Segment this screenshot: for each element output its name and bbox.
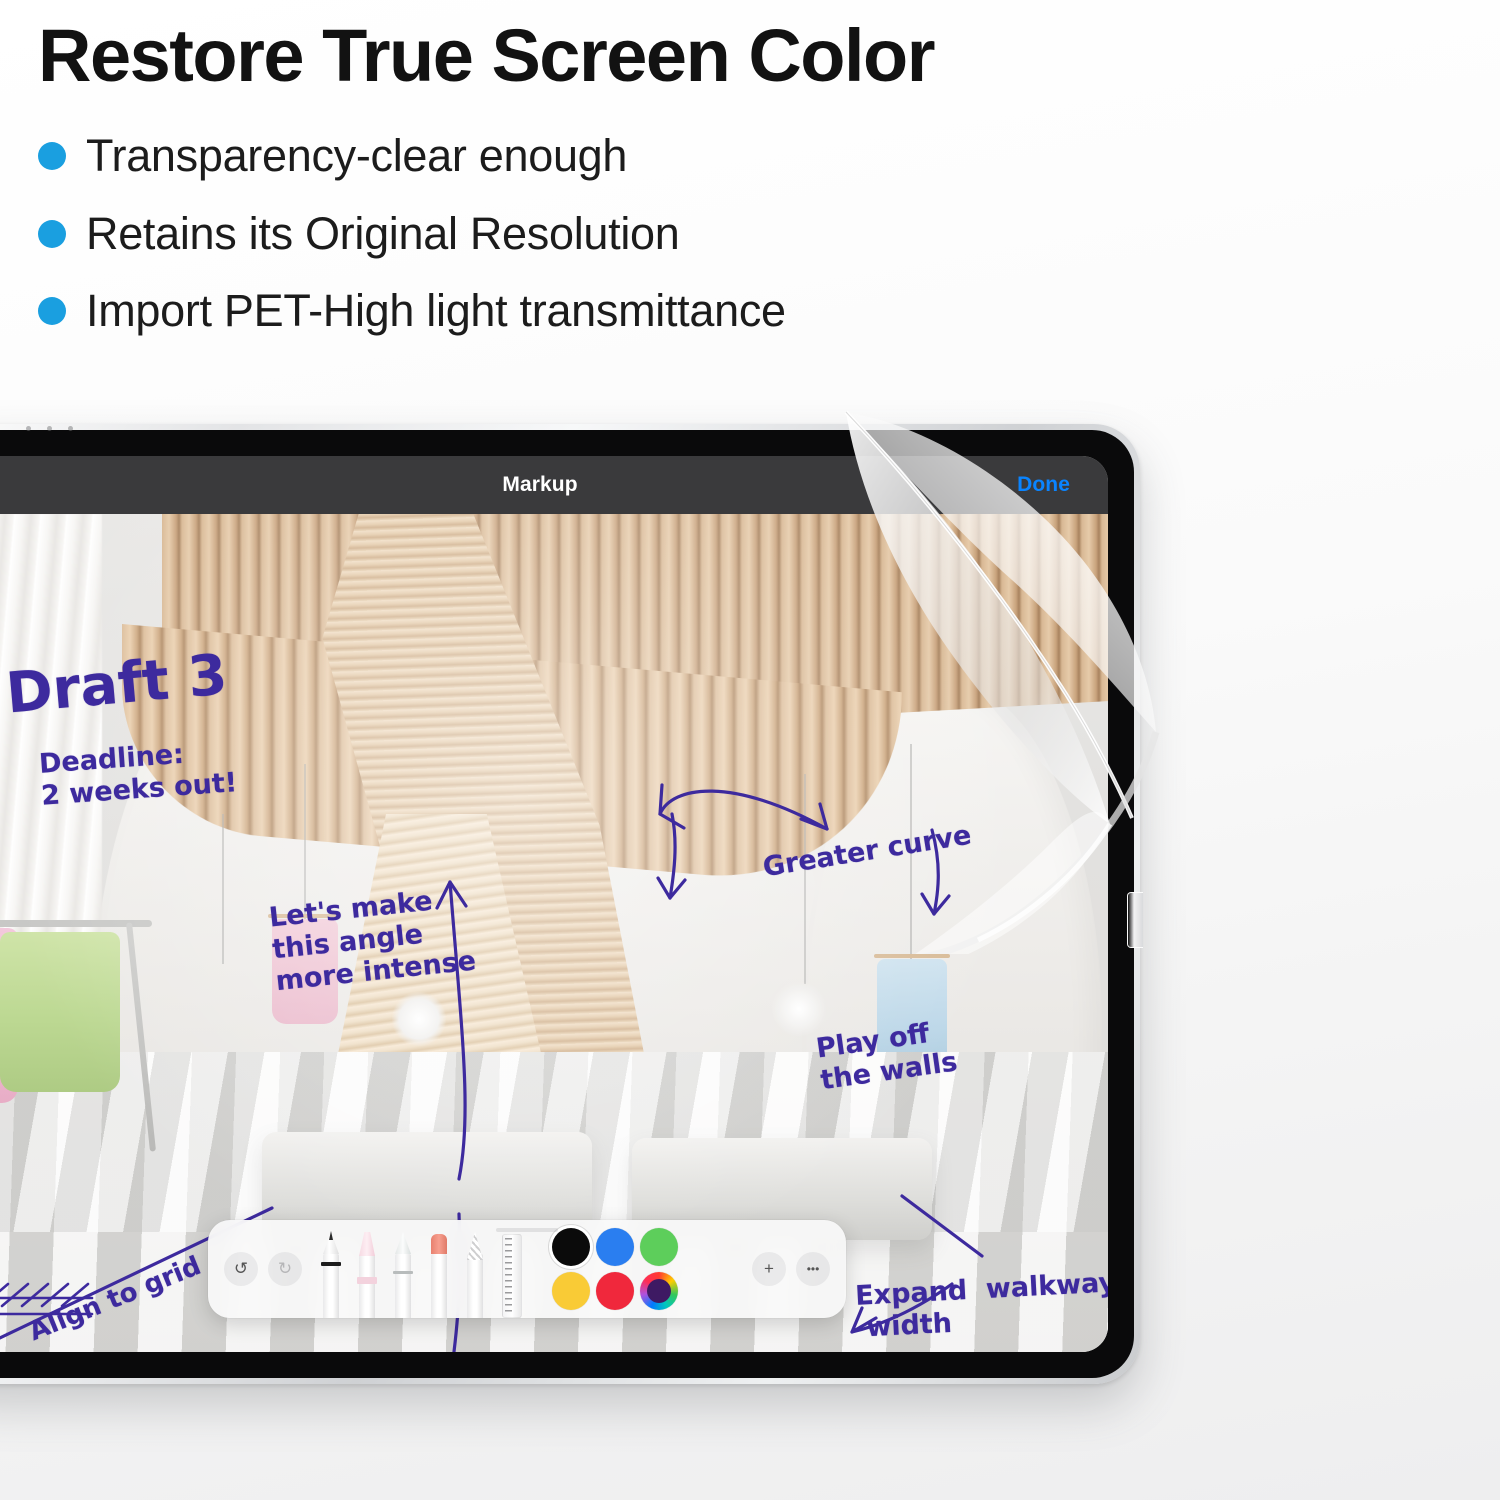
color-swatch-red[interactable]	[596, 1272, 634, 1310]
white-plant-decor	[772, 982, 826, 1036]
palette-actions: + •••	[752, 1252, 830, 1286]
hanging-rod	[304, 764, 306, 924]
markup-title: Markup	[502, 473, 577, 497]
garment-green	[0, 932, 120, 1092]
bullet-label: Retains its Original Resolution	[86, 209, 679, 259]
markup-tool-palette[interactable]: ↺ ↻	[208, 1220, 846, 1318]
crayon-tool[interactable]	[428, 1232, 450, 1318]
color-swatch-black[interactable]	[552, 1228, 590, 1266]
redo-button[interactable]: ↻	[268, 1252, 302, 1286]
color-swatch-green[interactable]	[640, 1228, 678, 1266]
color-swatch-blue[interactable]	[596, 1228, 634, 1266]
top-sensor-dots	[26, 426, 73, 431]
done-button[interactable]: Done	[1017, 473, 1070, 497]
drawing-tools	[320, 1220, 524, 1318]
color-swatches	[552, 1228, 678, 1310]
bullet-dot-icon	[38, 220, 66, 248]
white-plant-decor	[392, 992, 446, 1046]
sensor-dot-icon	[47, 426, 52, 431]
color-swatch-yellow[interactable]	[552, 1272, 590, 1310]
add-button[interactable]: +	[752, 1252, 786, 1286]
markup-canvas[interactable]: Draft 3 Deadline: 2 weeks out! Let's mak…	[0, 514, 1108, 1352]
hanger-icon	[268, 914, 338, 918]
feature-header: Restore True Screen Color Transparency-c…	[0, 0, 1500, 420]
list-item: Import PET-High light transmittance	[38, 286, 1500, 336]
product-feature-page: Restore True Screen Color Transparency-c…	[0, 0, 1500, 1500]
tablet-device: Markup Done	[0, 424, 1140, 1384]
bullet-label: Transparency-clear enough	[86, 131, 627, 181]
hanging-garment	[272, 919, 338, 1024]
markup-toolbar: Markup Done	[0, 456, 1108, 514]
color-picker-swatch[interactable]	[640, 1272, 678, 1310]
tablet-screen: Markup Done	[0, 456, 1108, 1352]
smudge-tool[interactable]	[464, 1232, 486, 1318]
sensor-dot-icon	[68, 426, 73, 431]
ruler-tool[interactable]	[500, 1232, 524, 1318]
hanging-rod	[804, 774, 806, 984]
pencil-magnetic-connector	[1127, 892, 1143, 948]
clothing-rack	[0, 892, 172, 1182]
bullet-dot-icon	[38, 297, 66, 325]
hanging-rod	[910, 744, 912, 964]
rack-leg	[126, 922, 156, 1151]
bullet-label: Import PET-High light transmittance	[86, 286, 786, 336]
list-item: Transparency-clear enough	[38, 131, 1500, 181]
pen-tool[interactable]	[320, 1232, 342, 1318]
tablet-bezel: Markup Done	[0, 430, 1134, 1378]
more-button[interactable]: •••	[796, 1252, 830, 1286]
bullet-dot-icon	[38, 142, 66, 170]
sensor-dot-icon	[26, 426, 31, 431]
feature-bullet-list: Transparency-clear enough Retains its Or…	[38, 131, 1500, 336]
list-item: Retains its Original Resolution	[38, 209, 1500, 259]
undo-button[interactable]: ↺	[224, 1252, 258, 1286]
highlighter-tool[interactable]	[356, 1232, 378, 1318]
pencil-tool[interactable]	[392, 1232, 414, 1318]
hanger-icon	[874, 954, 950, 958]
page-title: Restore True Screen Color	[38, 18, 1500, 93]
hanging-rod	[222, 814, 224, 964]
